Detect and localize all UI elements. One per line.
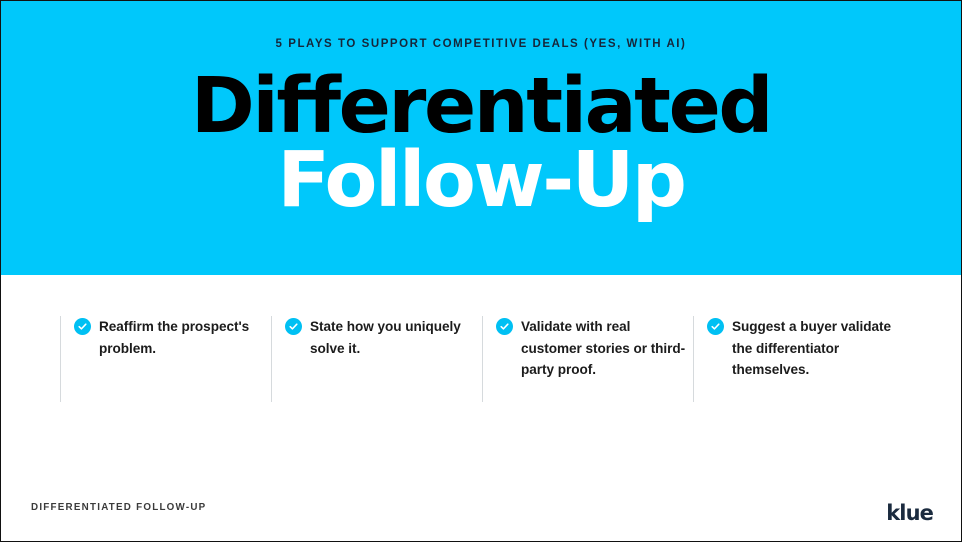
klue-logo: klue <box>886 503 933 524</box>
presentation-slide: 5 Plays to Support Competitive Deals (Ye… <box>0 0 962 542</box>
bullet-text: Suggest a buyer validate the differentia… <box>732 316 904 381</box>
bullet-column-1: Reaffirm the prospect's problem. <box>60 316 271 402</box>
bullet-text: Validate with real customer stories or t… <box>521 316 693 381</box>
title-line-secondary: Follow-Up <box>1 145 961 217</box>
title-line-primary: Differentiated <box>1 71 961 143</box>
footer-slide-label: Differentiated Follow-Up <box>31 502 206 513</box>
hero-banner: 5 Plays to Support Competitive Deals (Ye… <box>1 1 961 275</box>
check-circle-icon <box>285 318 302 335</box>
check-circle-icon <box>74 318 91 335</box>
bullet-column-3: Validate with real customer stories or t… <box>482 316 693 402</box>
bullet-columns: Reaffirm the prospect's problem. State h… <box>60 316 905 402</box>
bullet-column-4: Suggest a buyer validate the differentia… <box>693 316 904 402</box>
check-circle-icon <box>496 318 513 335</box>
eyebrow-kicker: 5 Plays to Support Competitive Deals (Ye… <box>1 38 961 52</box>
page-title: Differentiated Follow-Up <box>1 71 961 216</box>
bullet-text: Reaffirm the prospect's problem. <box>99 316 271 359</box>
bullet-column-2: State how you uniquely solve it. <box>271 316 482 402</box>
bullet-text: State how you uniquely solve it. <box>310 316 482 359</box>
check-circle-icon <box>707 318 724 335</box>
